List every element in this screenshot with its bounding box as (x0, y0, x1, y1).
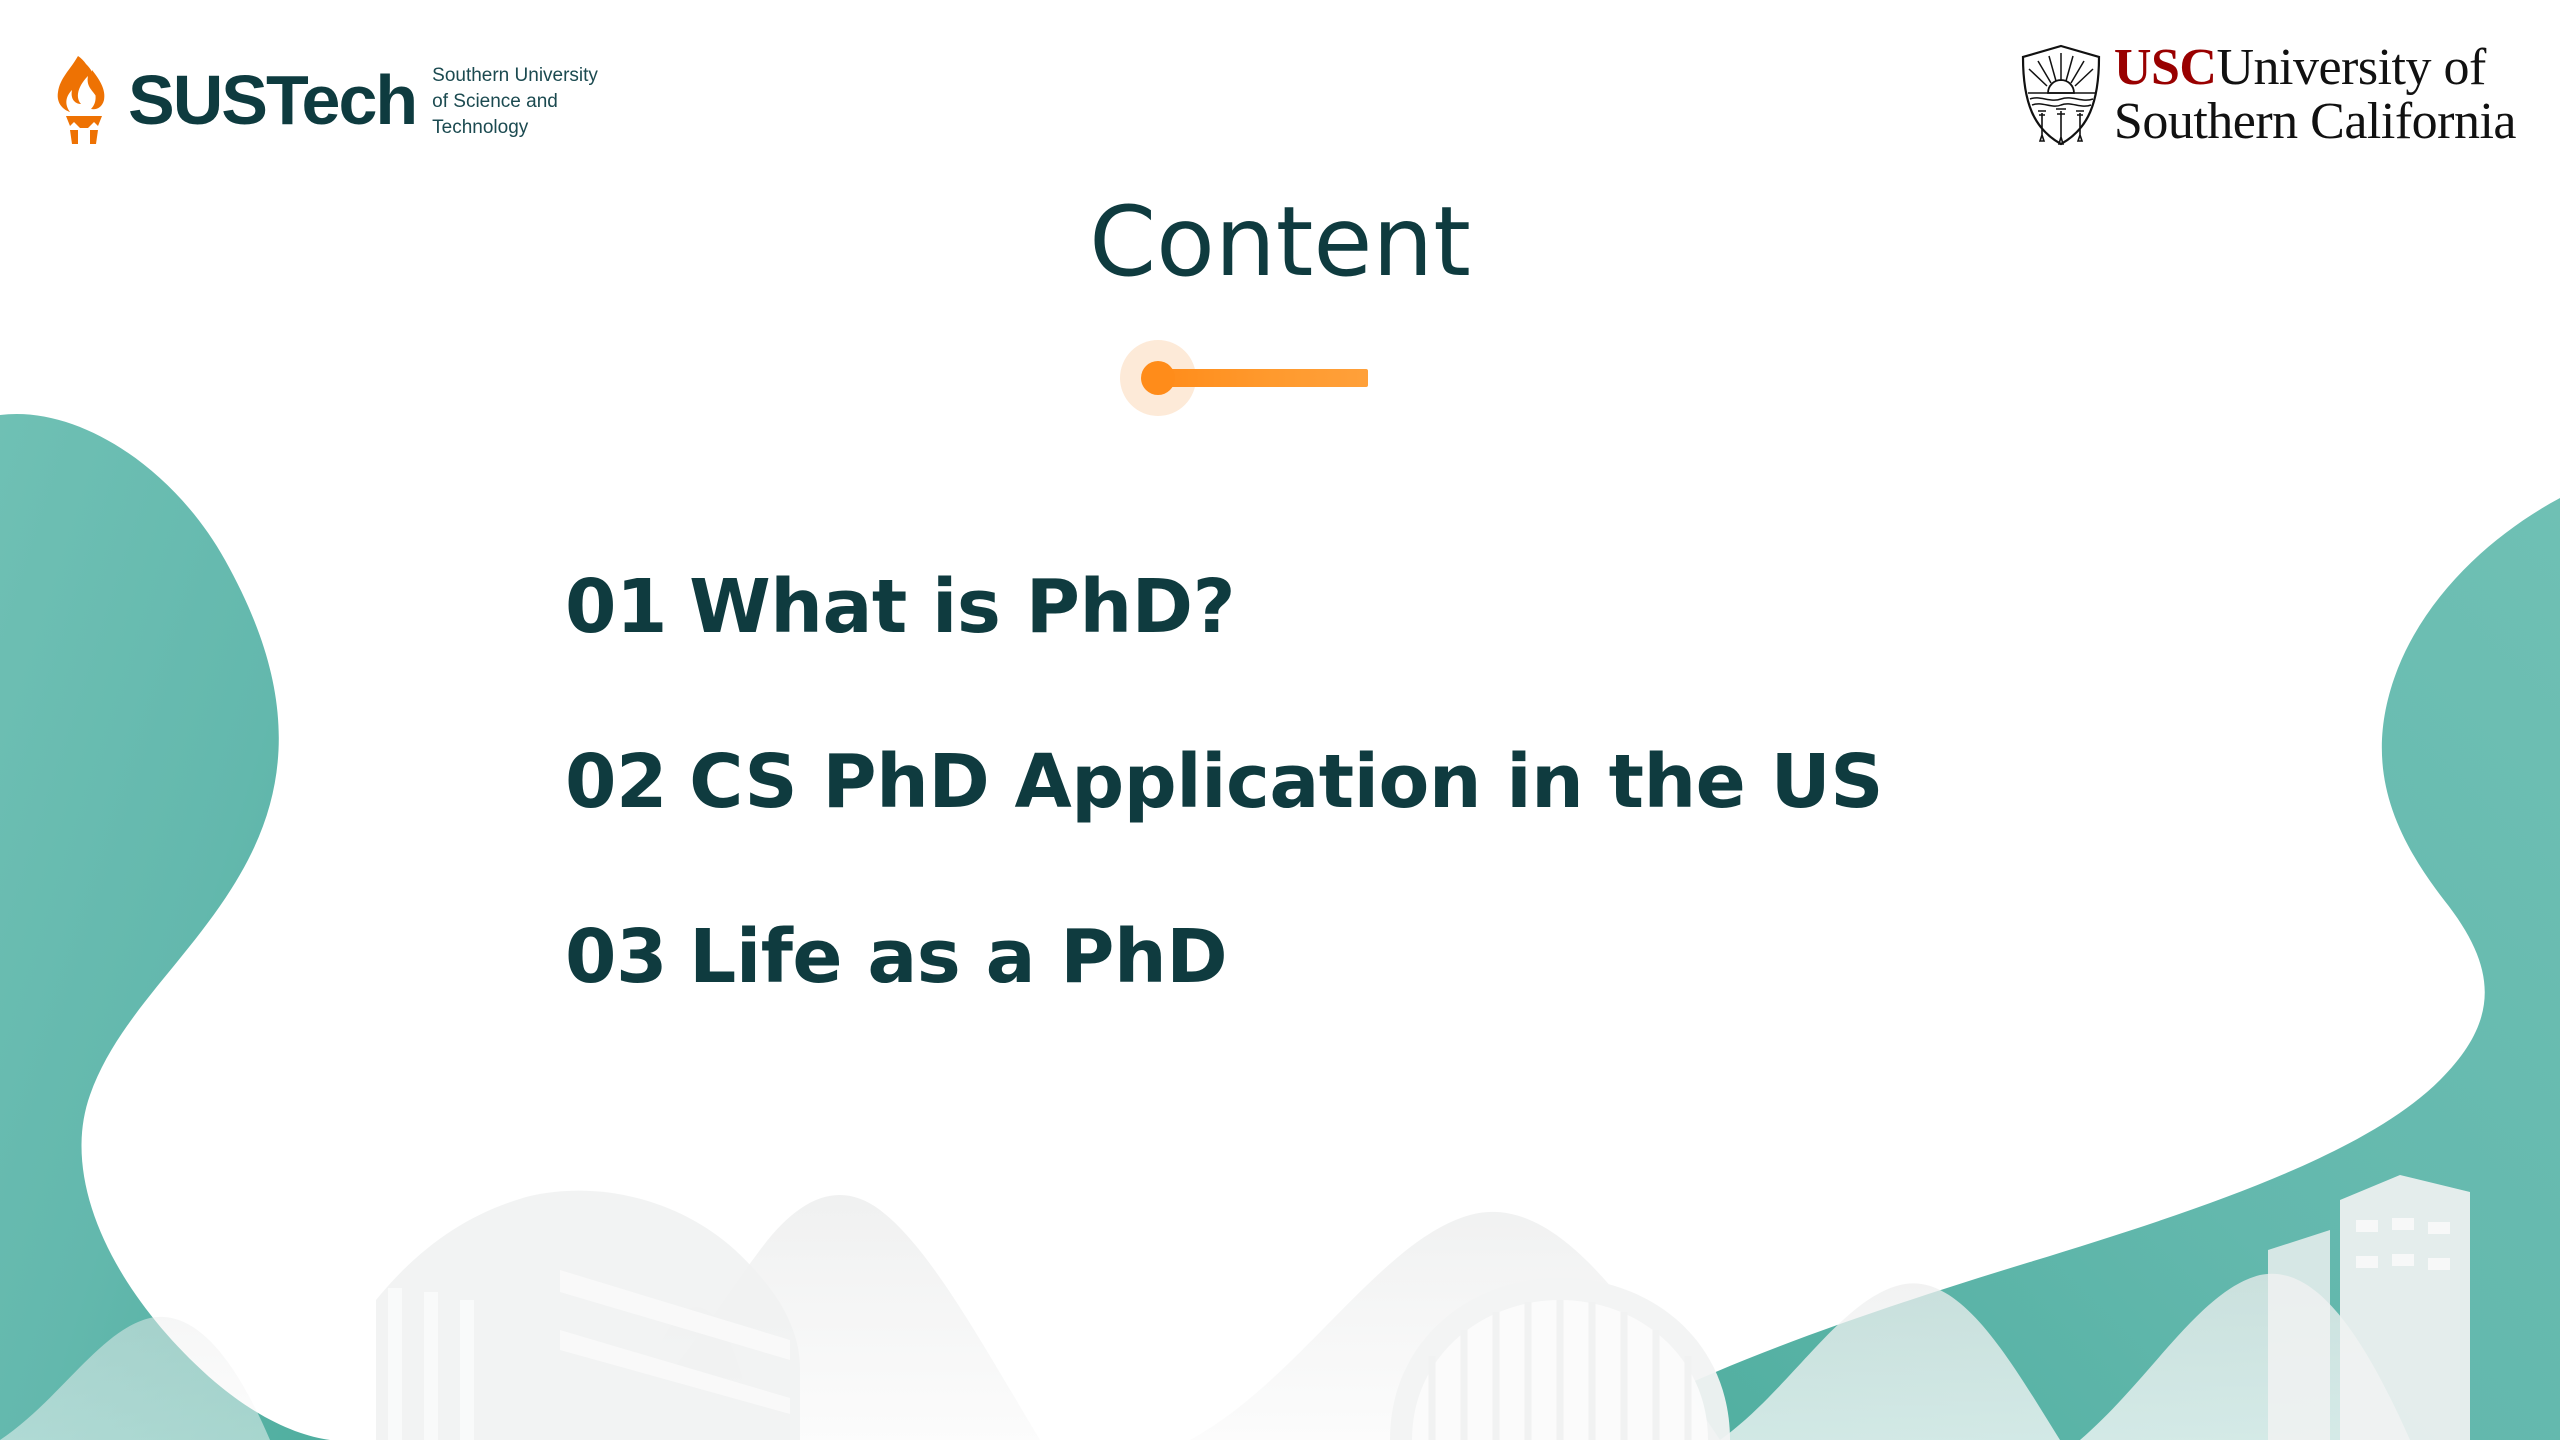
presentation-slide: SUSTech Southern University of Science a… (0, 0, 2560, 1440)
sustech-wordmark: SUSTech (128, 65, 416, 135)
list-item[interactable]: 02CS PhD Application in the US (565, 745, 2165, 819)
campus-watermark (0, 1195, 2410, 1440)
sustech-wordmark-t: T (266, 61, 302, 139)
campus-tower-watermark (2268, 1175, 2470, 1440)
list-item-number: 02 (565, 739, 667, 825)
sustech-tagline-line3: Technology (432, 115, 598, 141)
list-item-label: What is PhD? (689, 564, 1235, 650)
list-item[interactable]: 01What is PhD? (565, 570, 2165, 644)
decoration-bar (1160, 369, 1368, 387)
page-title: Content (0, 192, 2560, 293)
usc-logo: USCUniversity of Southern California (2018, 40, 2516, 150)
content-list: 01What is PhD? 02CS PhD Application in t… (565, 570, 2165, 994)
usc-line2: Southern California (2114, 96, 2516, 148)
list-item-number: 01 (565, 564, 667, 650)
campus-pavilion-watermark (1390, 1278, 1730, 1440)
list-item-label: Life as a PhD (689, 914, 1227, 1000)
sustech-logo: SUSTech Southern University of Science a… (48, 52, 598, 148)
sustech-tagline-line2: of Science and (432, 89, 598, 115)
usc-shield-icon (2018, 43, 2104, 147)
list-item[interactable]: 03Life as a PhD (565, 920, 2165, 994)
sustech-wordmark-sus: SUS (128, 61, 266, 139)
decoration-dot-icon (1141, 361, 1175, 395)
usc-line1-rest: University of (2216, 39, 2485, 96)
title-underline-decoration (1120, 340, 1420, 416)
sustech-tagline-line1: Southern University (432, 63, 598, 89)
sustech-flame-icon (48, 52, 120, 148)
sustech-tagline: Southern University of Science and Techn… (432, 63, 598, 142)
usc-wordmark: USCUniversity of Southern California (2114, 42, 2516, 148)
list-item-label: CS PhD Application in the US (689, 739, 1883, 825)
sustech-wordmark-ech: ech (302, 61, 417, 139)
campus-building-watermark (376, 1191, 800, 1440)
list-item-number: 03 (565, 914, 667, 1000)
usc-mark: USC (2114, 39, 2217, 96)
teal-blob-left (0, 414, 330, 1440)
